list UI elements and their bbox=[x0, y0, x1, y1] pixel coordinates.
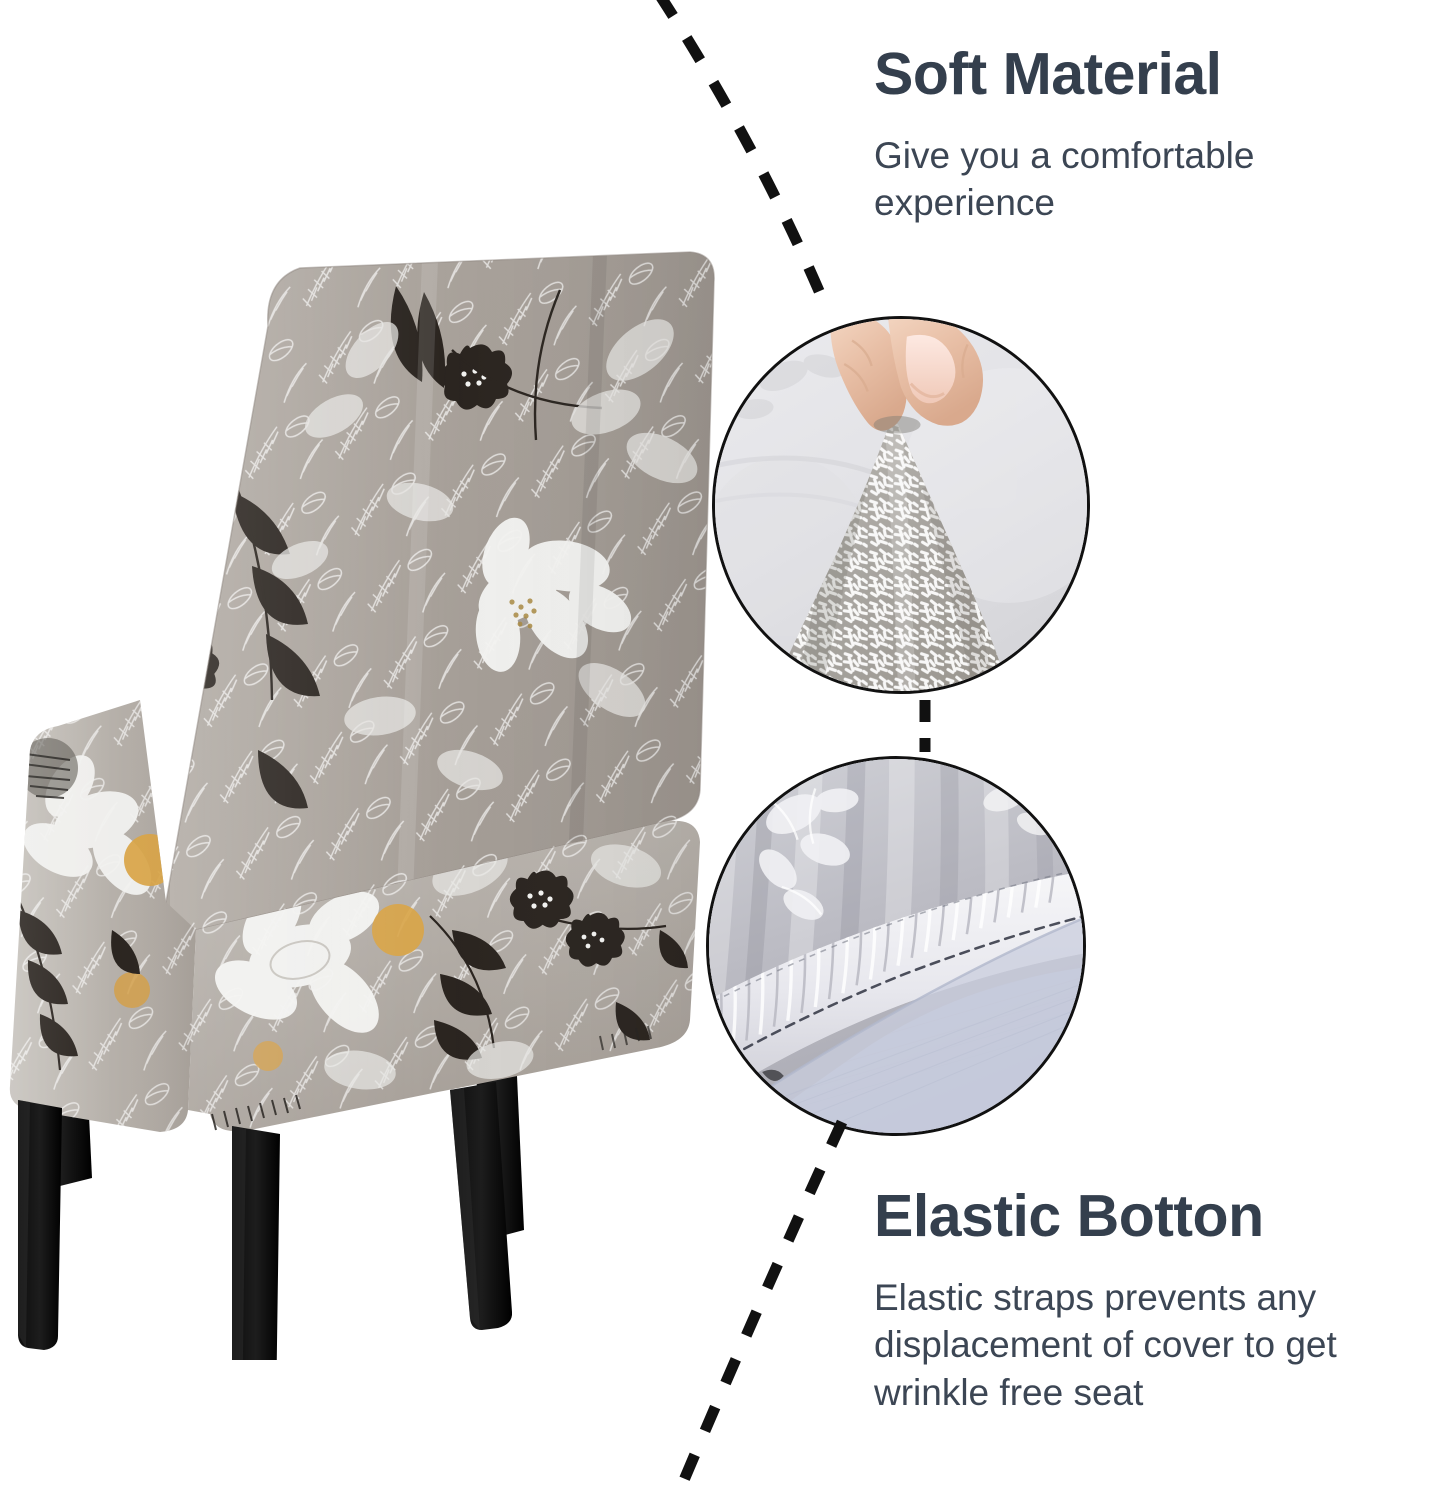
elastic-botton-headline: Elastic Botton bbox=[874, 1186, 1414, 1248]
elastic-botton-subtext: Elastic straps prevents any displacement… bbox=[874, 1274, 1414, 1416]
fabric-stretch-callout bbox=[712, 316, 1090, 694]
elastic-botton-text-block: Elastic Botton Elastic straps prevents a… bbox=[874, 1186, 1414, 1416]
soft-material-headline: Soft Material bbox=[874, 44, 1394, 106]
product-chair-image bbox=[0, 230, 720, 1360]
soft-material-text-block: Soft Material Give you a comfortable exp… bbox=[874, 44, 1394, 227]
soft-material-subtext: Give you a comfortable experience bbox=[874, 132, 1394, 227]
infographic-canvas: Soft Material Give you a comfortable exp… bbox=[0, 0, 1445, 1493]
elastic-hem-callout bbox=[706, 756, 1086, 1136]
